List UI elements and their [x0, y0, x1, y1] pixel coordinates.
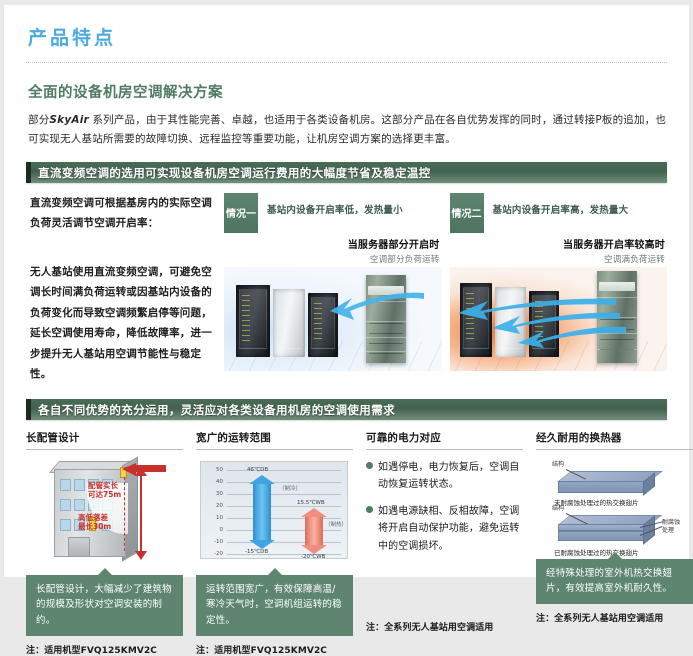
feature-long-piping: 长配管设计	[26, 430, 183, 656]
feature-power-response-title: 可靠的电力对应	[366, 430, 523, 450]
feature-operating-range-title: 宽广的运转范围	[196, 430, 353, 450]
bullet-dot-icon	[366, 506, 373, 513]
feature-long-piping-callout: 长配管设计，大幅减少了建筑物的规模及形状对空调安装的制约。	[26, 575, 183, 636]
product-features-page: 产品特点 全面的设备机房空调解决方案 部分SkyAir 系列产品，由于其性能完善…	[0, 0, 693, 589]
case-one-subtitle: 基站内设备开启率低，发热量小	[267, 193, 403, 216]
feature-heat-exchanger-note: 注：全系列无人基站用空调适用	[536, 611, 693, 624]
treated-fin-caption: 已耐腐蚀处理过的热交换翅片	[554, 547, 639, 557]
page-title: 产品特点	[28, 23, 667, 50]
chart-ytick: 20	[205, 503, 223, 509]
case-two-illustration	[450, 267, 668, 371]
case-one-badge: 情况一	[224, 193, 258, 233]
power-bullet-text: 如遇停电，电力恢复后，空调自动恢复运转状态。	[378, 459, 523, 494]
cases-paragraph-1: 直流变频空调可根据基房内的实际空调负荷灵活调节空调开启率：	[30, 193, 216, 234]
case-two-header: 情况二 基站内设备开启率高，发热量大	[450, 193, 668, 235]
structure-label: 结构	[552, 459, 564, 468]
building-entrance	[68, 537, 90, 557]
heating-min-label: -20℃WB	[301, 554, 325, 560]
feature-heat-exchanger: 经久耐用的换热器 结构 未耐腐蚀处理过的热交换翅片 结构	[536, 430, 693, 656]
corrosion-treatment-label: 耐腐蚀处理	[662, 519, 680, 535]
cooling-min-label: -15℃DB	[245, 549, 268, 555]
feature-operating-range-note: 注：适用机型FVQ125KMV2C	[196, 643, 353, 656]
piping-arrow-icon	[122, 463, 166, 477]
feature-operating-range: 宽广的运转范围 50 40 30 20 10 0	[196, 430, 353, 656]
chart-ytick: 30	[205, 491, 223, 497]
cooling-max-label: 46℃DB	[247, 467, 268, 473]
power-bullet-text: 如遇电源缺相、反相故障，空调将开启自动保护功能，避免运转中的空调损坏。	[378, 503, 523, 556]
heat-exchanger-illustration: 结构 未耐腐蚀处理过的热交换翅片 结构 耐腐蚀处理 已耐腐蚀处理过的热交换翅片	[536, 457, 693, 559]
treated-fin-slab	[558, 515, 654, 545]
feature-operating-range-callout: 运转范围宽广，有效保障高温/寒冷天气时，空调机组运转的稳定性。	[196, 575, 353, 636]
feature-power-response-note: 注：全系列无人基站用空调适用	[366, 620, 523, 633]
case-two-caption-sub: 空调满负荷运转	[450, 253, 666, 265]
building-illustration: 配管实长可达75m 高低落差最长30m	[26, 457, 183, 575]
feature-power-response: 可靠的电力对应 如遇停电，电力恢复后，空调自动恢复运转状态。 如遇电源缺相、反相…	[366, 430, 523, 656]
section-bar-flexible-use-label: 各自不同优势的充分运用，灵活应对各类设备用机房的空调使用需求	[38, 402, 395, 418]
case-two-subtitle: 基站内设备开启率高，发热量大	[493, 193, 629, 216]
untreated-fin-slab	[558, 471, 654, 495]
heating-mode-label: （制热）	[325, 520, 347, 528]
feature-heat-exchanger-title: 经久耐用的换热器	[536, 430, 693, 450]
airflow-arrow	[518, 325, 628, 349]
untreated-fin-caption: 未耐腐蚀处理过的热交换翅片	[554, 497, 639, 507]
chart-ytick: 0	[205, 527, 223, 533]
features-row: 长配管设计	[26, 430, 667, 656]
chart-ytick: -20	[205, 551, 223, 557]
chart-ytick: 10	[205, 515, 223, 521]
case-one-caption-sub: 空调部分负荷运转	[224, 253, 440, 265]
height-dimension-line	[140, 473, 142, 555]
operating-range-chart: 50 40 30 20 10 0 -10 -20 46℃DB -15℃DB	[196, 457, 353, 575]
cases-paragraph-2: 无人基站使用直流变频空调，可避免空调长时间满负荷运转或因基站内设备的负荷变化而导…	[30, 262, 216, 385]
cooling-mode-label: （制冷）	[279, 484, 301, 492]
case-one-illustration	[224, 267, 442, 371]
case-one-header: 情况一 基站内设备开启率低，发热量小	[224, 193, 442, 235]
case-one: 情况一 基站内设备开启率低，发热量小 当服务器部分开启时 空调部分负荷运转	[224, 193, 442, 385]
chart-plot-area: 50 40 30 20 10 0 -10 -20 46℃DB -15℃DB	[200, 461, 348, 559]
airflow-arrow	[330, 289, 426, 323]
chart-ytick: 50	[205, 467, 223, 473]
heating-range-bar	[305, 508, 323, 554]
intro-text-a: 部分	[28, 114, 49, 126]
intro-paragraph: 部分SkyAir 系列产品，由于其性能完善、卓越，也适用于各类设备机房。这部分产…	[28, 111, 667, 150]
list-item: 如遇停电，电力恢复后，空调自动恢复运转状态。	[366, 459, 523, 494]
case-two-badge: 情况二	[450, 193, 484, 233]
piping-dashed-line	[124, 477, 125, 551]
list-item: 如遇电源缺相、反相故障，空调将开启自动保护功能，避免运转中的空调损坏。	[366, 503, 523, 556]
feature-heat-exchanger-callout: 经特殊处理的室外机热交换翅片，有效提高室外机耐久性。	[536, 559, 693, 604]
chart-ytick: 40	[205, 479, 223, 485]
section-bar-energy-saving-label: 直流变频空调的选用可实现设备机房空调运行费用的大幅度节省及稳定温控	[38, 165, 431, 181]
section-bar-energy-saving: 直流变频空调的选用可实现设备机房空调运行费用的大幅度节省及稳定温控	[26, 162, 667, 183]
case-one-caption: 当服务器部分开启时 空调部分负荷运转	[224, 236, 440, 265]
bullet-dot-icon	[366, 462, 373, 469]
structure-label: 结构	[552, 503, 564, 512]
heating-max-label: 15.5℃WB	[297, 500, 325, 506]
cooling-range-bar	[253, 475, 271, 549]
operating-cases-block: 直流变频空调可根据基房内的实际空调负荷灵活调节空调开启率： 无人基站使用直流变频…	[26, 193, 667, 385]
power-bullet-list: 如遇停电，电力恢复后，空调自动恢复运转状态。 如遇电源缺相、反相故障，空调将开启…	[366, 457, 523, 575]
pipe-length-annotation: 配管实长可达75m	[88, 481, 121, 500]
case-two: 情况二 基站内设备开启率高，发热量大 当服务器开启率较高时 空调满负荷运转	[450, 193, 668, 385]
server-rack	[273, 289, 305, 357]
height-difference-annotation: 高低落差最长30m	[78, 513, 111, 532]
section-bar-flexible-use: 各自不同优势的充分运用，灵活应对各类设备用机房的空调使用需求	[26, 399, 667, 420]
cases-description: 直流变频空调可根据基房内的实际空调负荷灵活调节空调开启率： 无人基站使用直流变频…	[26, 193, 216, 385]
intro-text-b: 系列产品，由于其性能完善、卓越，也适用于各类设备机房。这部分产品在各自优势发挥的…	[28, 114, 666, 145]
chart-ytick: -10	[205, 539, 223, 545]
title-divider	[26, 62, 667, 63]
case-one-caption-main: 当服务器部分开启时	[224, 236, 440, 251]
section-title: 全面的设备机房空调解决方案	[28, 81, 667, 102]
feature-long-piping-note: 注：适用机型FVQ125KMV2C	[26, 643, 183, 656]
brand-name: SkyAir	[49, 114, 89, 126]
case-two-caption-main: 当服务器开启率较高时	[450, 236, 666, 251]
server-rack	[236, 285, 270, 357]
case-two-caption: 当服务器开启率较高时 空调满负荷运转	[450, 236, 666, 265]
dimension-arrow-down-icon	[135, 551, 147, 560]
feature-long-piping-title: 长配管设计	[26, 430, 183, 450]
